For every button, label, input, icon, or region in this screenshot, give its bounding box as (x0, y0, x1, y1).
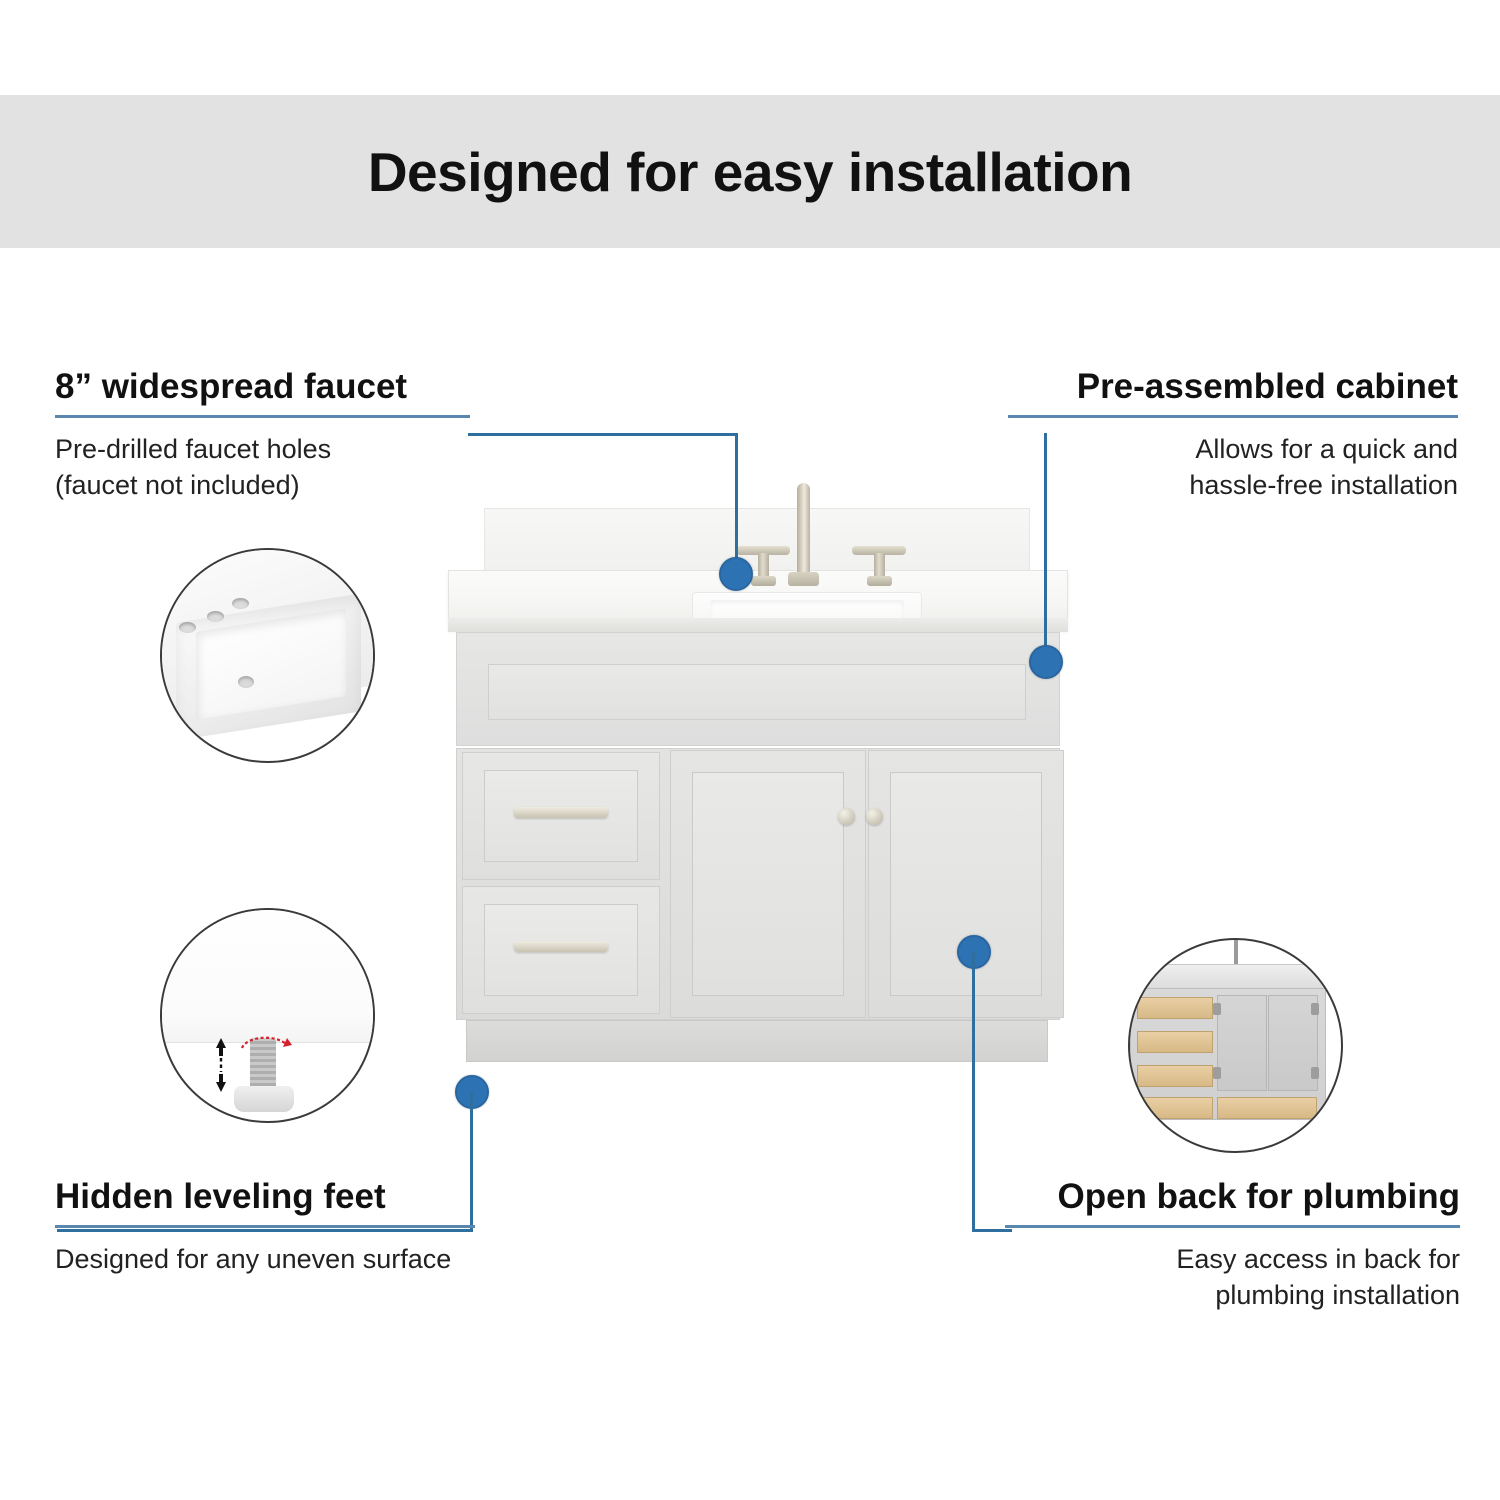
marker-cabinet[interactable] (1029, 645, 1063, 679)
countertop-edge (448, 618, 1068, 632)
callout-body: Easy access in back for plumbing install… (1005, 1242, 1460, 1314)
callout-rule (55, 1225, 475, 1228)
up-down-arrow-icon (214, 1036, 228, 1094)
drawer-back (1137, 997, 1213, 1019)
faucet-holes-inset (160, 548, 375, 763)
drain-hole-icon (238, 676, 254, 688)
leader-line-openback-v (972, 952, 975, 1230)
door-knob-left (838, 808, 855, 825)
leader-line-faucet-v (735, 433, 738, 573)
inset-cabinet-shell (1130, 988, 1326, 1120)
callout-body: Designed for any uneven surface (55, 1242, 525, 1278)
callout-open-back-plumbing: Open back for plumbing Easy access in ba… (1005, 1178, 1460, 1314)
toe-kick (466, 1020, 1048, 1062)
callout-body: Allows for a quick and hassle-free insta… (1008, 432, 1458, 504)
rotate-arrow-icon (236, 1030, 294, 1056)
callout-pre-assembled-cabinet: Pre-assembled cabinet Allows for a quick… (1008, 368, 1458, 504)
drawer-pull-lower (514, 941, 608, 952)
inset-countertop (1128, 964, 1328, 990)
faucet-hole-icon (179, 622, 196, 633)
hinge-icon (1311, 1067, 1319, 1079)
callout-heading: 8” widespread faucet (55, 368, 525, 406)
top-drawer-inset (488, 664, 1026, 720)
drawer-back (1217, 1097, 1317, 1119)
callout-rule (55, 415, 470, 418)
infographic-canvas: Designed for easy installation (0, 0, 1500, 1500)
foot-pad (234, 1086, 294, 1112)
cabinet-door-left-inset (692, 772, 844, 996)
hinge-icon (1311, 1003, 1319, 1015)
drawer-back (1137, 1031, 1213, 1053)
hinge-icon (1213, 1067, 1221, 1079)
callout-rule (1008, 415, 1458, 418)
callout-hidden-leveling-feet: Hidden leveling feet Designed for any un… (55, 1178, 525, 1278)
callout-heading: Pre-assembled cabinet (1008, 368, 1458, 406)
door-knob-right (866, 808, 883, 825)
header-band: Designed for easy installation (0, 95, 1500, 248)
callout-heading: Open back for plumbing (1005, 1178, 1460, 1216)
faucet-base (788, 572, 819, 586)
drawer-back (1137, 1065, 1213, 1087)
vanity-product-image (448, 508, 1068, 1103)
faucet-hole-icon (232, 598, 249, 609)
page-title: Designed for easy installation (0, 95, 1500, 248)
marker-faucet[interactable] (719, 557, 753, 591)
drawer-pull-upper (514, 807, 608, 818)
leveling-foot-inset (160, 908, 375, 1123)
faucet-hole-icon (207, 611, 224, 622)
callout-heading: Hidden leveling feet (55, 1178, 525, 1216)
door-back-left (1217, 995, 1267, 1091)
callout-body: Pre-drilled faucet holes (faucet not inc… (55, 432, 525, 504)
faucet-spout (797, 483, 810, 578)
faucet-handle-right (852, 546, 906, 586)
callout-rule (1005, 1225, 1460, 1228)
drawer-back (1137, 1097, 1213, 1119)
hinge-icon (1213, 1003, 1221, 1015)
callout-widespread-faucet: 8” widespread faucet Pre-drilled faucet … (55, 368, 525, 504)
open-back-inset (1128, 938, 1343, 1153)
